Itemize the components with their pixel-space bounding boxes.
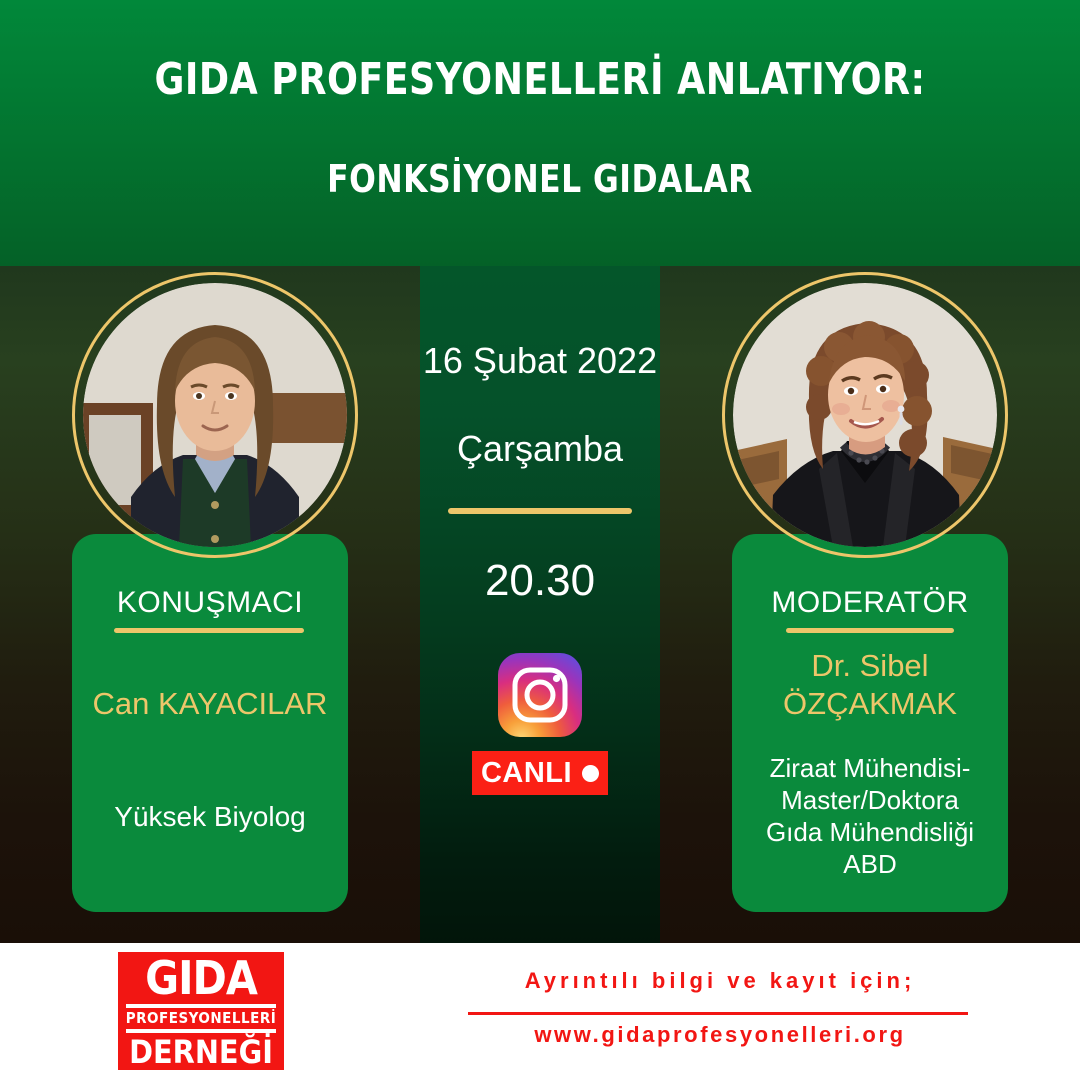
moderator-name-line2: ÖZÇAKMAK (732, 686, 1008, 722)
contact-divider (468, 1012, 968, 1015)
moderator-name-line1: Dr. Sibel (732, 648, 1008, 684)
speaker-title: Yüksek Biyolog (72, 800, 348, 834)
center-divider (448, 508, 632, 514)
speaker-card: KONUŞMACI Can KAYACILAR Yüksek Biyolog (72, 534, 348, 912)
header-background (0, 0, 1080, 266)
moderator-card: MODERATÖR Dr. Sibel ÖZÇAKMAK Ziraat Mühe… (732, 534, 1008, 912)
live-label: CANLI (481, 759, 572, 788)
moderator-title-line2: Master/Doktora (732, 784, 1008, 816)
logo-divider-1 (126, 1004, 276, 1008)
website-url[interactable]: www.gidaprofesyonelleri.org (440, 1022, 1000, 1048)
event-time: 20.30 (420, 556, 660, 606)
speaker-name: Can KAYACILAR (72, 686, 348, 722)
moderator-title-line4: ABD (732, 848, 1008, 880)
speaker-photo (83, 283, 347, 547)
moderator-title-line3: Gıda Mühendisliği (732, 816, 1008, 848)
event-date: 16 Şubat 2022 (420, 340, 660, 382)
speaker-role-label: KONUŞMACI (72, 586, 348, 620)
logo-sub2-text: DERNEĞİ (129, 1035, 273, 1069)
logo-sub-text: PROFESYONELLERİ (126, 1010, 276, 1027)
live-dot-icon (582, 765, 599, 782)
contact-prompt: Ayrıntılı bilgi ve kayıt için; (440, 968, 1000, 994)
logo-main-text: GIDA (145, 954, 257, 1002)
moderator-divider (786, 628, 954, 633)
moderator-title-line1: Ziraat Mühendisi- (732, 752, 1008, 784)
live-badge: CANLI (472, 751, 608, 795)
event-poster: GIDA PROFESYONELLERİ ANLATIYOR: FONKSİYO… (0, 0, 1080, 1080)
poster-title-line1: GIDA PROFESYONELLERİ ANLATIYOR: (43, 54, 1037, 105)
organization-logo: GIDA PROFESYONELLERİ DERNEĞİ (118, 952, 284, 1070)
speaker-divider (114, 628, 304, 633)
moderator-photo (733, 283, 997, 547)
moderator-role-label: MODERATÖR (732, 586, 1008, 620)
instagram-icon[interactable] (498, 653, 582, 737)
event-day: Çarşamba (420, 428, 660, 470)
poster-title-line2: FONKSİYONEL GIDALAR (43, 157, 1037, 201)
